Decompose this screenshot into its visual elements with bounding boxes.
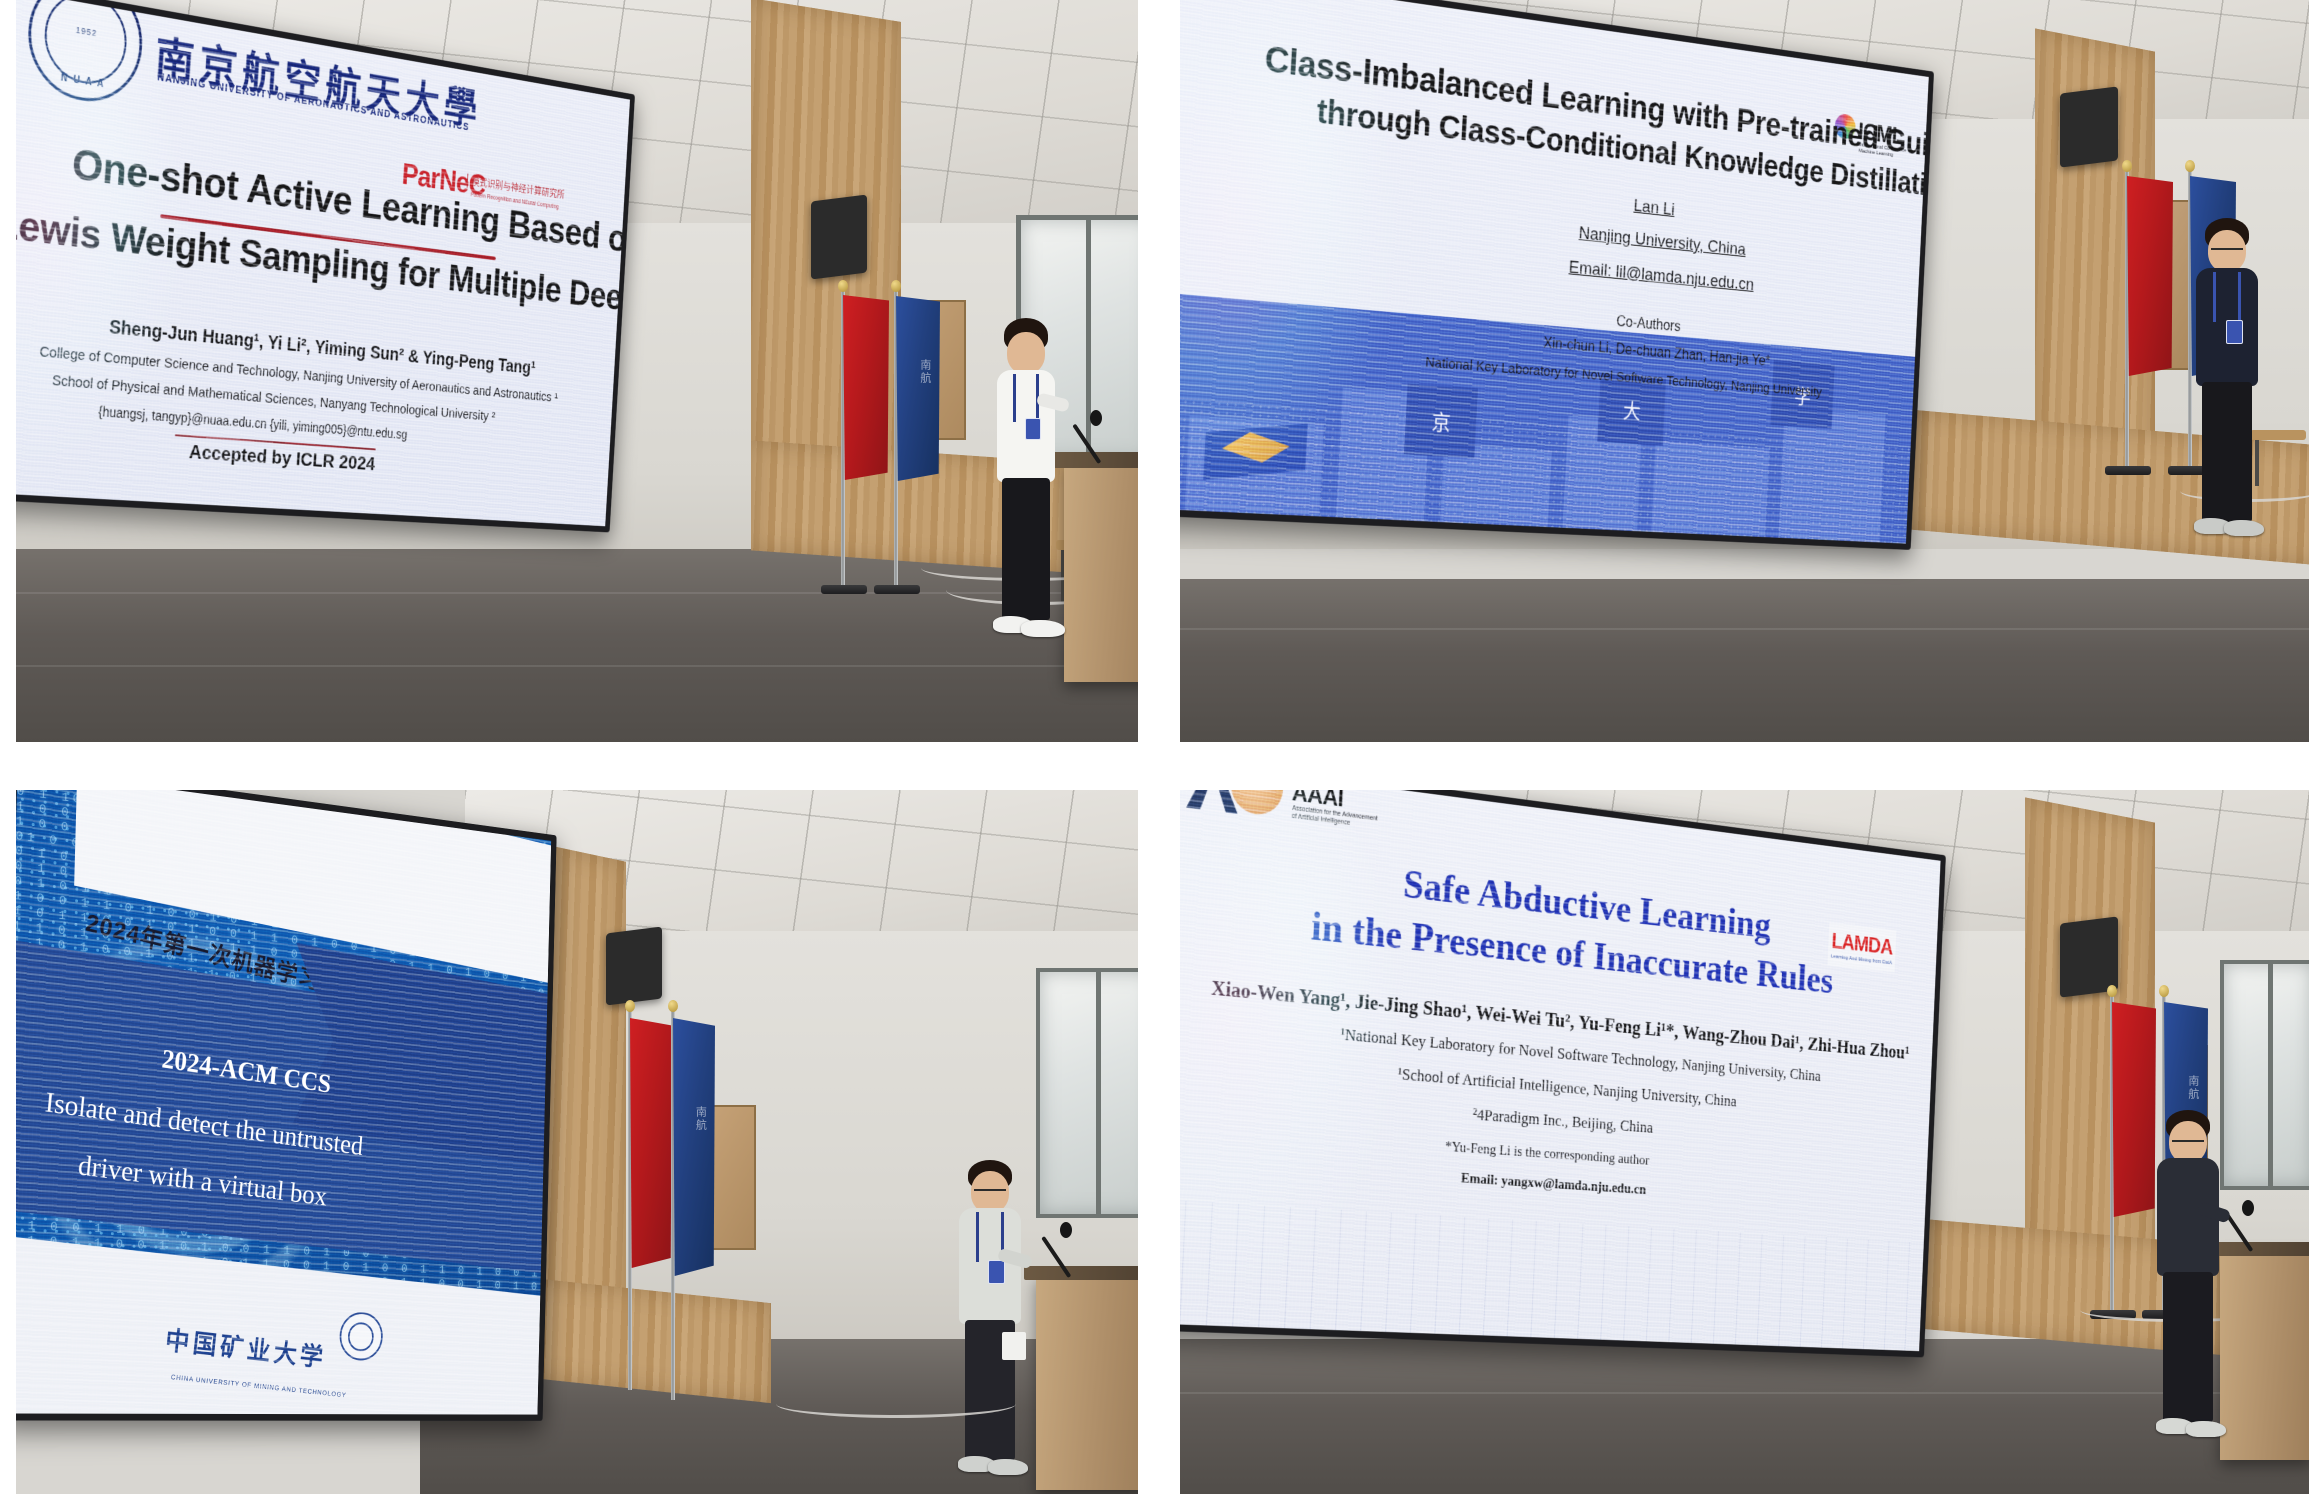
flag-blue: 南航	[896, 296, 940, 481]
led-screen-4: AAAI Association for the Advancement of …	[1180, 790, 1946, 1357]
podium-top-3	[1024, 1266, 1138, 1280]
slide2-email: Email: lil@lamda.nju.edu.cn	[1568, 258, 1754, 296]
photo-grid: 南航	[0, 0, 2309, 1494]
podium	[1064, 462, 1138, 682]
flag-emblem-text-3: 南航	[684, 1106, 706, 1194]
presenter-glasses-2	[2211, 248, 2243, 257]
flag-red	[843, 295, 889, 480]
led-screen-1: 1952 N U A A 南京航空航天大學 NANJING UNIVERSITY…	[16, 0, 635, 532]
presenter-badge-2	[2226, 320, 2243, 344]
presenter-figure-3	[944, 1160, 1036, 1480]
slide-2: 京 大 学 lamda.nju.edu.cn ICML Internationa…	[1180, 0, 1929, 544]
presenter-shoe-right-2	[2224, 520, 2264, 536]
slide2-speaker: Lan Li	[1633, 196, 1675, 221]
slide2-tile-0: 京	[1404, 384, 1479, 458]
presenter-glasses-3	[974, 1189, 1006, 1198]
flag-base-red-2	[2105, 466, 2151, 475]
panel-top-left: 南航	[16, 0, 1138, 742]
presenter-glasses-4	[2172, 1140, 2204, 1149]
presenter-notes-3	[1002, 1332, 1026, 1360]
presenter-figure-4	[2142, 1110, 2234, 1450]
aaai-logo: AAAI Association for the Advancement of …	[1185, 790, 1391, 857]
presenter-shoe-right-3	[988, 1459, 1028, 1475]
podium-3	[1036, 1275, 1138, 1490]
presenter-figure-2	[2182, 218, 2272, 548]
led-screen-3: 010110 1001 0 1 0010 110 01 0 1 0 10 011…	[16, 790, 557, 1421]
floor-2	[1180, 579, 2309, 742]
slide-3: 010110 1001 0 1 0010 110 01 0 1 0 10 011…	[16, 790, 551, 1415]
slide4-note: *Yu-Feng Li is the corresponding author	[1445, 1139, 1650, 1169]
flag-base-red	[821, 585, 867, 594]
panel-bottom-left: 南航	[16, 790, 1138, 1494]
microphone-head-4	[2242, 1200, 2254, 1216]
nuaa-seal-icon: 1952 N U A A	[24, 0, 146, 109]
microphone-head-3	[1060, 1222, 1072, 1238]
aaai-sun-icon	[1230, 790, 1285, 817]
presenter-legs-2	[2202, 382, 2252, 522]
presenter-legs-4	[2163, 1272, 2213, 1422]
presenter-badge-3	[988, 1260, 1005, 1284]
slide2-affiliation: Nanjing University, China	[1578, 223, 1746, 260]
panel-bottom-right: 南航	[1180, 790, 2309, 1494]
lamda-logo: LAMDA Learning And Mining from DatA	[1828, 923, 1897, 973]
presenter-shoe-right-4	[2186, 1421, 2226, 1437]
flag-red-2	[2127, 176, 2173, 376]
presenter-lanyard-2	[2213, 272, 2241, 322]
ceiling-speaker	[811, 195, 867, 280]
slide2-city-illustration: 京 大 学	[1180, 292, 1915, 544]
microphone-head	[1090, 410, 1102, 426]
presenter-badge	[1025, 418, 1041, 440]
floor-4	[1180, 1339, 2309, 1494]
flag-red-3	[630, 1018, 672, 1268]
flag-blue-3: 南航	[673, 1018, 715, 1276]
slide4-email: Email: yangxw@lamda.nju.edu.cn	[1461, 1171, 1647, 1199]
presenter-legs	[1002, 478, 1050, 620]
ceiling-speaker-3	[606, 927, 662, 1006]
presenter-head	[1007, 332, 1045, 374]
panel-top-right: 南航	[1180, 0, 2309, 742]
slide4-skyline-outline	[1180, 1199, 1924, 1351]
flag-emblem-text: 南航	[907, 359, 930, 422]
slide4-affil-3: ²4Paradigm Inc., Beijing, China	[1472, 1105, 1653, 1137]
ceiling-speaker-2	[2060, 86, 2118, 167]
flag-base-blue	[874, 585, 920, 594]
led-screen-2: 京 大 学 lamda.nju.edu.cn ICML Internationa…	[1180, 0, 1934, 550]
window-3	[1036, 968, 1138, 1218]
floor-cable-4	[776, 1390, 1016, 1418]
presenter-shoe-right	[1021, 620, 1065, 637]
presenter-figure	[981, 318, 1071, 648]
slide-4: AAAI Association for the Advancement of …	[1180, 790, 1941, 1351]
presenter-lanyard	[1013, 374, 1039, 422]
